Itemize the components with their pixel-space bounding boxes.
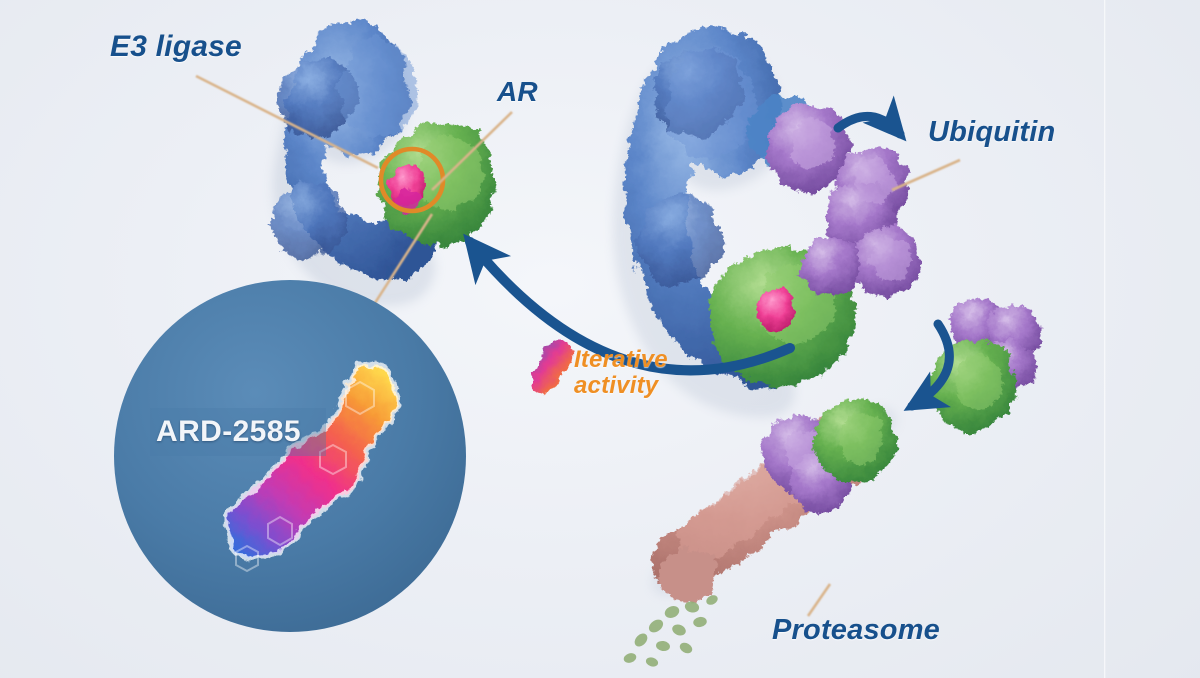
label-ubiquitin: Ubiquitin (928, 116, 1055, 149)
ar-protein-cargo (813, 400, 896, 483)
ubiquitination-arrow (838, 116, 900, 134)
label-ard-2585: ARD-2585 (156, 415, 301, 449)
label-proteasome: Proteasome (772, 614, 940, 647)
diagram-svg (0, 0, 1200, 678)
degrader-callout (114, 280, 466, 632)
label-ar: AR (497, 76, 538, 108)
label-iterative-activity: Iterative activity (574, 347, 754, 398)
figure-canvas: E3 ligase AR Ubiquitin Iterative activit… (0, 0, 1200, 678)
leader-line-proteasome (808, 584, 830, 616)
peptide-fragments (622, 593, 719, 668)
label-e3-ligase: E3 ligase (110, 30, 242, 64)
free-degrader-molecule (531, 340, 574, 394)
